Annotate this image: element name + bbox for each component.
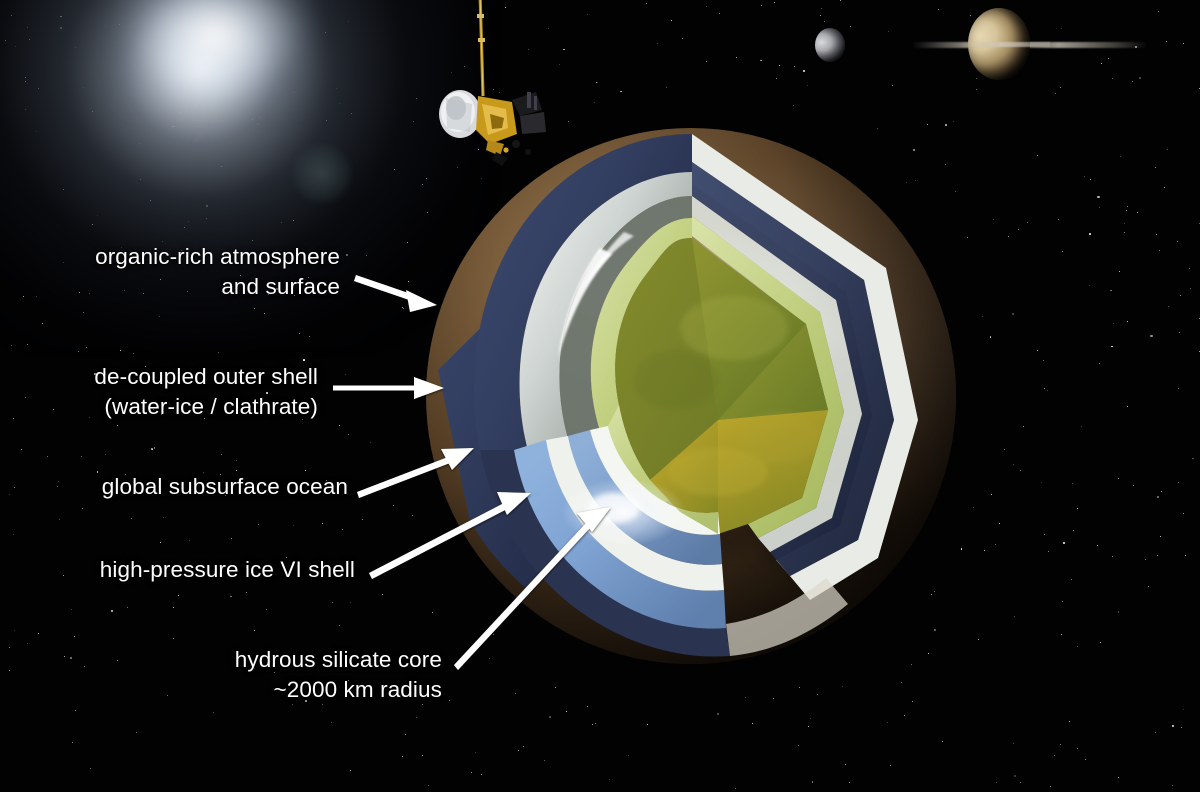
lens-flare-icon	[292, 144, 352, 204]
label-organic-rich-atmosphere: organic-rich atmosphere and surface	[0, 242, 340, 302]
saturn-rings-front	[960, 42, 1050, 47]
saturn-group	[930, 2, 1130, 92]
interior-cutaway-wedge	[418, 120, 964, 672]
label-high-pressure-ice-vi-shell: high-pressure ice VI shell	[0, 555, 355, 585]
label-de-coupled-outer-shell: de-coupled outer shell (water-ice / clat…	[0, 362, 318, 422]
sun-core-glow	[120, 0, 310, 110]
cut-bottom-rim	[726, 578, 848, 656]
ocean-highlight-glint-core	[588, 493, 640, 523]
titan-planet	[418, 120, 964, 672]
label-hydrous-silicate-core: hydrous silicate core ~2000 km radius	[0, 645, 442, 705]
label-global-subsurface-ocean: global subsurface ocean	[0, 472, 348, 502]
titan-interior-diagram: organic-rich atmosphere and surface de-c…	[0, 0, 1200, 792]
moon-crescent	[815, 28, 845, 62]
